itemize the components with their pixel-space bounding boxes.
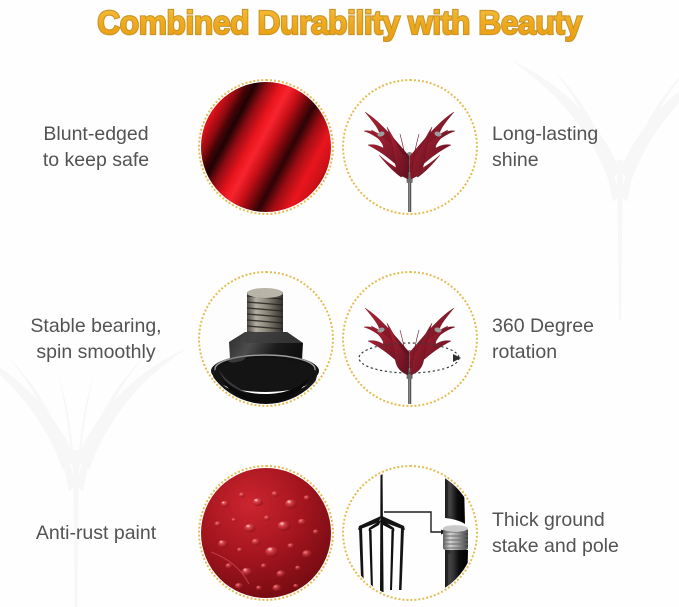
photo-paint-droplets [201,468,331,598]
photo-wind-spinner [345,82,475,212]
infographic-page: Combined Durability with Beauty Combined… [0,0,679,607]
media-red-glossy-blade [196,77,336,217]
photo-stake-and-pole [345,468,475,598]
feature-row-blunt-edge: Blunt-edged to keep safe [0,72,679,222]
feature-label-blunt-edged: Blunt-edged to keep safe [0,121,196,173]
media-bolt-bearing [196,269,336,409]
media-stake-and-pole [340,463,480,603]
feature-label-360-degree-rotation: 360 Degree rotation [480,313,665,365]
photo-rotation-spinner [345,274,475,404]
feature-label-long-lasting-shine: Long-lasting shine [480,121,665,173]
feature-row-bearing: Stable bearing, spin smoothly [0,264,679,414]
media-paint-droplets [196,463,336,603]
feature-label-stable-bearing: Stable bearing, spin smoothly [0,313,196,365]
page-title: Combined Durability with Beauty [14,2,666,44]
media-rotation-spinner [340,269,480,409]
photo-red-glossy-blade [201,82,331,212]
feature-row-paint: Anti-rust paint [0,458,679,607]
feature-label-anti-rust-paint: Anti-rust paint [0,520,196,546]
media-wind-spinner [340,77,480,217]
feature-label-thick-ground-stake: Thick ground stake and pole [480,507,665,559]
photo-bolt-bearing [201,274,331,404]
